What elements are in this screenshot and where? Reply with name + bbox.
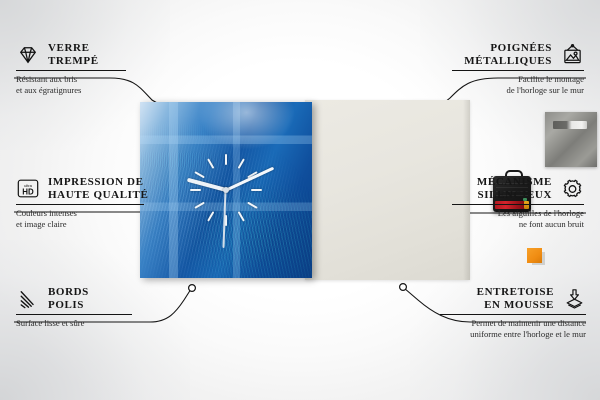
callout-desc-line-1: Surface lisse et sûre bbox=[16, 318, 85, 328]
callout-mecanisme-silencieux: MÉCANISME SILENCIEUX Les aiguilles de l'… bbox=[452, 176, 584, 229]
callout-title-line-2: SILENCIEUX bbox=[478, 189, 552, 201]
callout-desc-line-1: Couleurs intenses bbox=[16, 208, 77, 218]
callout-bords-polis: BORDS POLIS Surface lisse et sûre bbox=[16, 286, 148, 329]
callout-desc-line-2: de l'horloge sur le mur bbox=[507, 85, 584, 95]
callout-title-line-2: POLIS bbox=[48, 299, 84, 311]
callout-poignees-metalliques: POIGNÉES MÉTALLIQUES Facilite le montage… bbox=[452, 42, 584, 95]
arrow-onto-layers-icon bbox=[562, 288, 586, 310]
callout-desc-line-2: uniforme entre l'horloge et le mur bbox=[470, 329, 586, 339]
callout-title-line-1: BORDS bbox=[48, 286, 89, 298]
callout-title-line-2: TREMPÉ bbox=[48, 55, 99, 67]
callout-title-line-2: MÉTALLIQUES bbox=[464, 55, 552, 67]
callout-description: Couleurs intenses et image claire bbox=[16, 208, 166, 229]
callout-title-line-1: VERRE bbox=[48, 42, 90, 54]
clock-hand-cap bbox=[223, 187, 229, 193]
callout-title: VERRE TREMPÉ bbox=[48, 42, 99, 67]
infographic-canvas: VERRE TREMPÉ Résistant aux bris et aux é… bbox=[0, 0, 600, 400]
callout-title-line-1: ENTRETOISE bbox=[477, 286, 554, 298]
callout-description: Résistant aux bris et aux égratignures bbox=[16, 74, 148, 95]
ultra-hd-icon: ultra HD bbox=[16, 178, 40, 200]
callout-title: BORDS POLIS bbox=[48, 286, 89, 311]
callout-header: VERRE TREMPÉ bbox=[16, 42, 148, 67]
callout-impression-haute-qualite: ultra HD IMPRESSION DE HAUTE QUALITÉ Cou… bbox=[16, 176, 166, 229]
callout-title-line-1: IMPRESSION DE bbox=[48, 176, 144, 188]
callout-desc-line-2: et image claire bbox=[16, 219, 67, 229]
callout-rule bbox=[16, 70, 126, 71]
callout-header: ultra HD IMPRESSION DE HAUTE QUALITÉ bbox=[16, 176, 166, 201]
callout-title-line-2: HAUTE QUALITÉ bbox=[48, 189, 148, 201]
callout-desc-line-2: ne font aucun bruit bbox=[519, 219, 584, 229]
callout-title-line-1: POIGNÉES bbox=[490, 42, 552, 54]
foam-spacer bbox=[527, 248, 542, 263]
callout-title-line-2: EN MOUSSE bbox=[484, 299, 554, 311]
callout-rule bbox=[452, 70, 584, 71]
callout-desc-line-2: et aux égratignures bbox=[16, 85, 81, 95]
callout-verre-trempe: VERRE TREMPÉ Résistant aux bris et aux é… bbox=[16, 42, 148, 95]
callout-desc-line-1: Les aiguilles de l'horloge bbox=[498, 208, 584, 218]
gear-icon bbox=[560, 178, 584, 200]
callout-description: Permet de maintenir une distance uniform… bbox=[440, 318, 586, 339]
callout-title-line-1: MÉCANISME bbox=[477, 176, 552, 188]
diamond-icon bbox=[16, 44, 40, 66]
callout-entretoise-en-mousse: ENTRETOISE EN MOUSSE Permet de maintenir… bbox=[440, 286, 586, 339]
callout-title: POIGNÉES MÉTALLIQUES bbox=[464, 42, 552, 67]
callout-description: Les aiguilles de l'horloge ne font aucun… bbox=[452, 208, 584, 229]
product-photo bbox=[140, 100, 470, 280]
callout-desc-line-1: Facilite le montage bbox=[518, 74, 584, 84]
callout-title: MÉCANISME SILENCIEUX bbox=[477, 176, 552, 201]
callout-header: POIGNÉES MÉTALLIQUES bbox=[452, 42, 584, 67]
clock-back-panel bbox=[305, 100, 470, 280]
callout-title: IMPRESSION DE HAUTE QUALITÉ bbox=[48, 176, 148, 201]
callout-description: Facilite le montage de l'horloge sur le … bbox=[452, 74, 584, 95]
callout-header: ENTRETOISE EN MOUSSE bbox=[440, 286, 586, 311]
callout-rule bbox=[452, 204, 584, 205]
callout-rule bbox=[16, 314, 132, 315]
callout-rule bbox=[16, 204, 144, 205]
svg-text:HD: HD bbox=[22, 187, 34, 196]
polished-edges-icon bbox=[16, 288, 40, 310]
callout-title: ENTRETOISE EN MOUSSE bbox=[477, 286, 554, 311]
metal-hanging-bracket bbox=[545, 112, 597, 167]
callout-rule bbox=[440, 314, 586, 315]
callout-desc-line-1: Permet de maintenir une distance bbox=[471, 318, 586, 328]
hanging-frame-icon bbox=[560, 44, 584, 66]
callout-header: MÉCANISME SILENCIEUX bbox=[452, 176, 584, 201]
callout-desc-line-1: Résistant aux bris bbox=[16, 74, 77, 84]
callout-header: BORDS POLIS bbox=[16, 286, 148, 311]
callout-description: Surface lisse et sûre bbox=[16, 318, 148, 329]
